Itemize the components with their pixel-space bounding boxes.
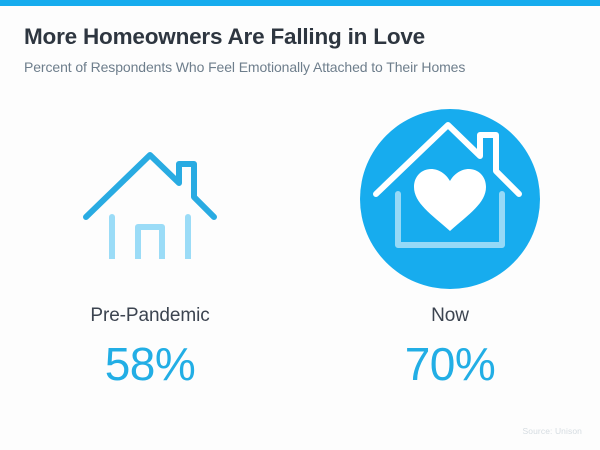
comparison-columns: Pre-Pandemic 58% Now 70% <box>0 104 600 414</box>
house-roof-and-chimney <box>86 155 214 217</box>
column-label-now: Now <box>431 306 469 325</box>
house-with-heart-circle-icon <box>359 108 541 290</box>
page-title: More Homeowners Are Falling in Love <box>24 24 580 51</box>
house-outline-icon-wrap <box>82 104 218 294</box>
top-accent-bar <box>0 0 600 6</box>
column-pre-pandemic: Pre-Pandemic 58% <box>0 104 300 414</box>
column-label-pre-pandemic: Pre-Pandemic <box>90 306 209 325</box>
house-walls-with-door <box>112 217 188 259</box>
source-attribution: Source: Unison <box>522 426 582 436</box>
house-outline-icon <box>82 139 218 259</box>
house-with-heart-circle-icon-wrap <box>359 104 541 294</box>
column-value-now: 70% <box>405 341 496 387</box>
infographic-canvas: More Homeowners Are Falling in Love Perc… <box>0 0 600 450</box>
header: More Homeowners Are Falling in Love Perc… <box>24 24 580 76</box>
column-value-pre-pandemic: 58% <box>105 341 196 387</box>
page-subtitle: Percent of Respondents Who Feel Emotiona… <box>24 58 580 76</box>
column-now: Now 70% <box>300 104 600 414</box>
